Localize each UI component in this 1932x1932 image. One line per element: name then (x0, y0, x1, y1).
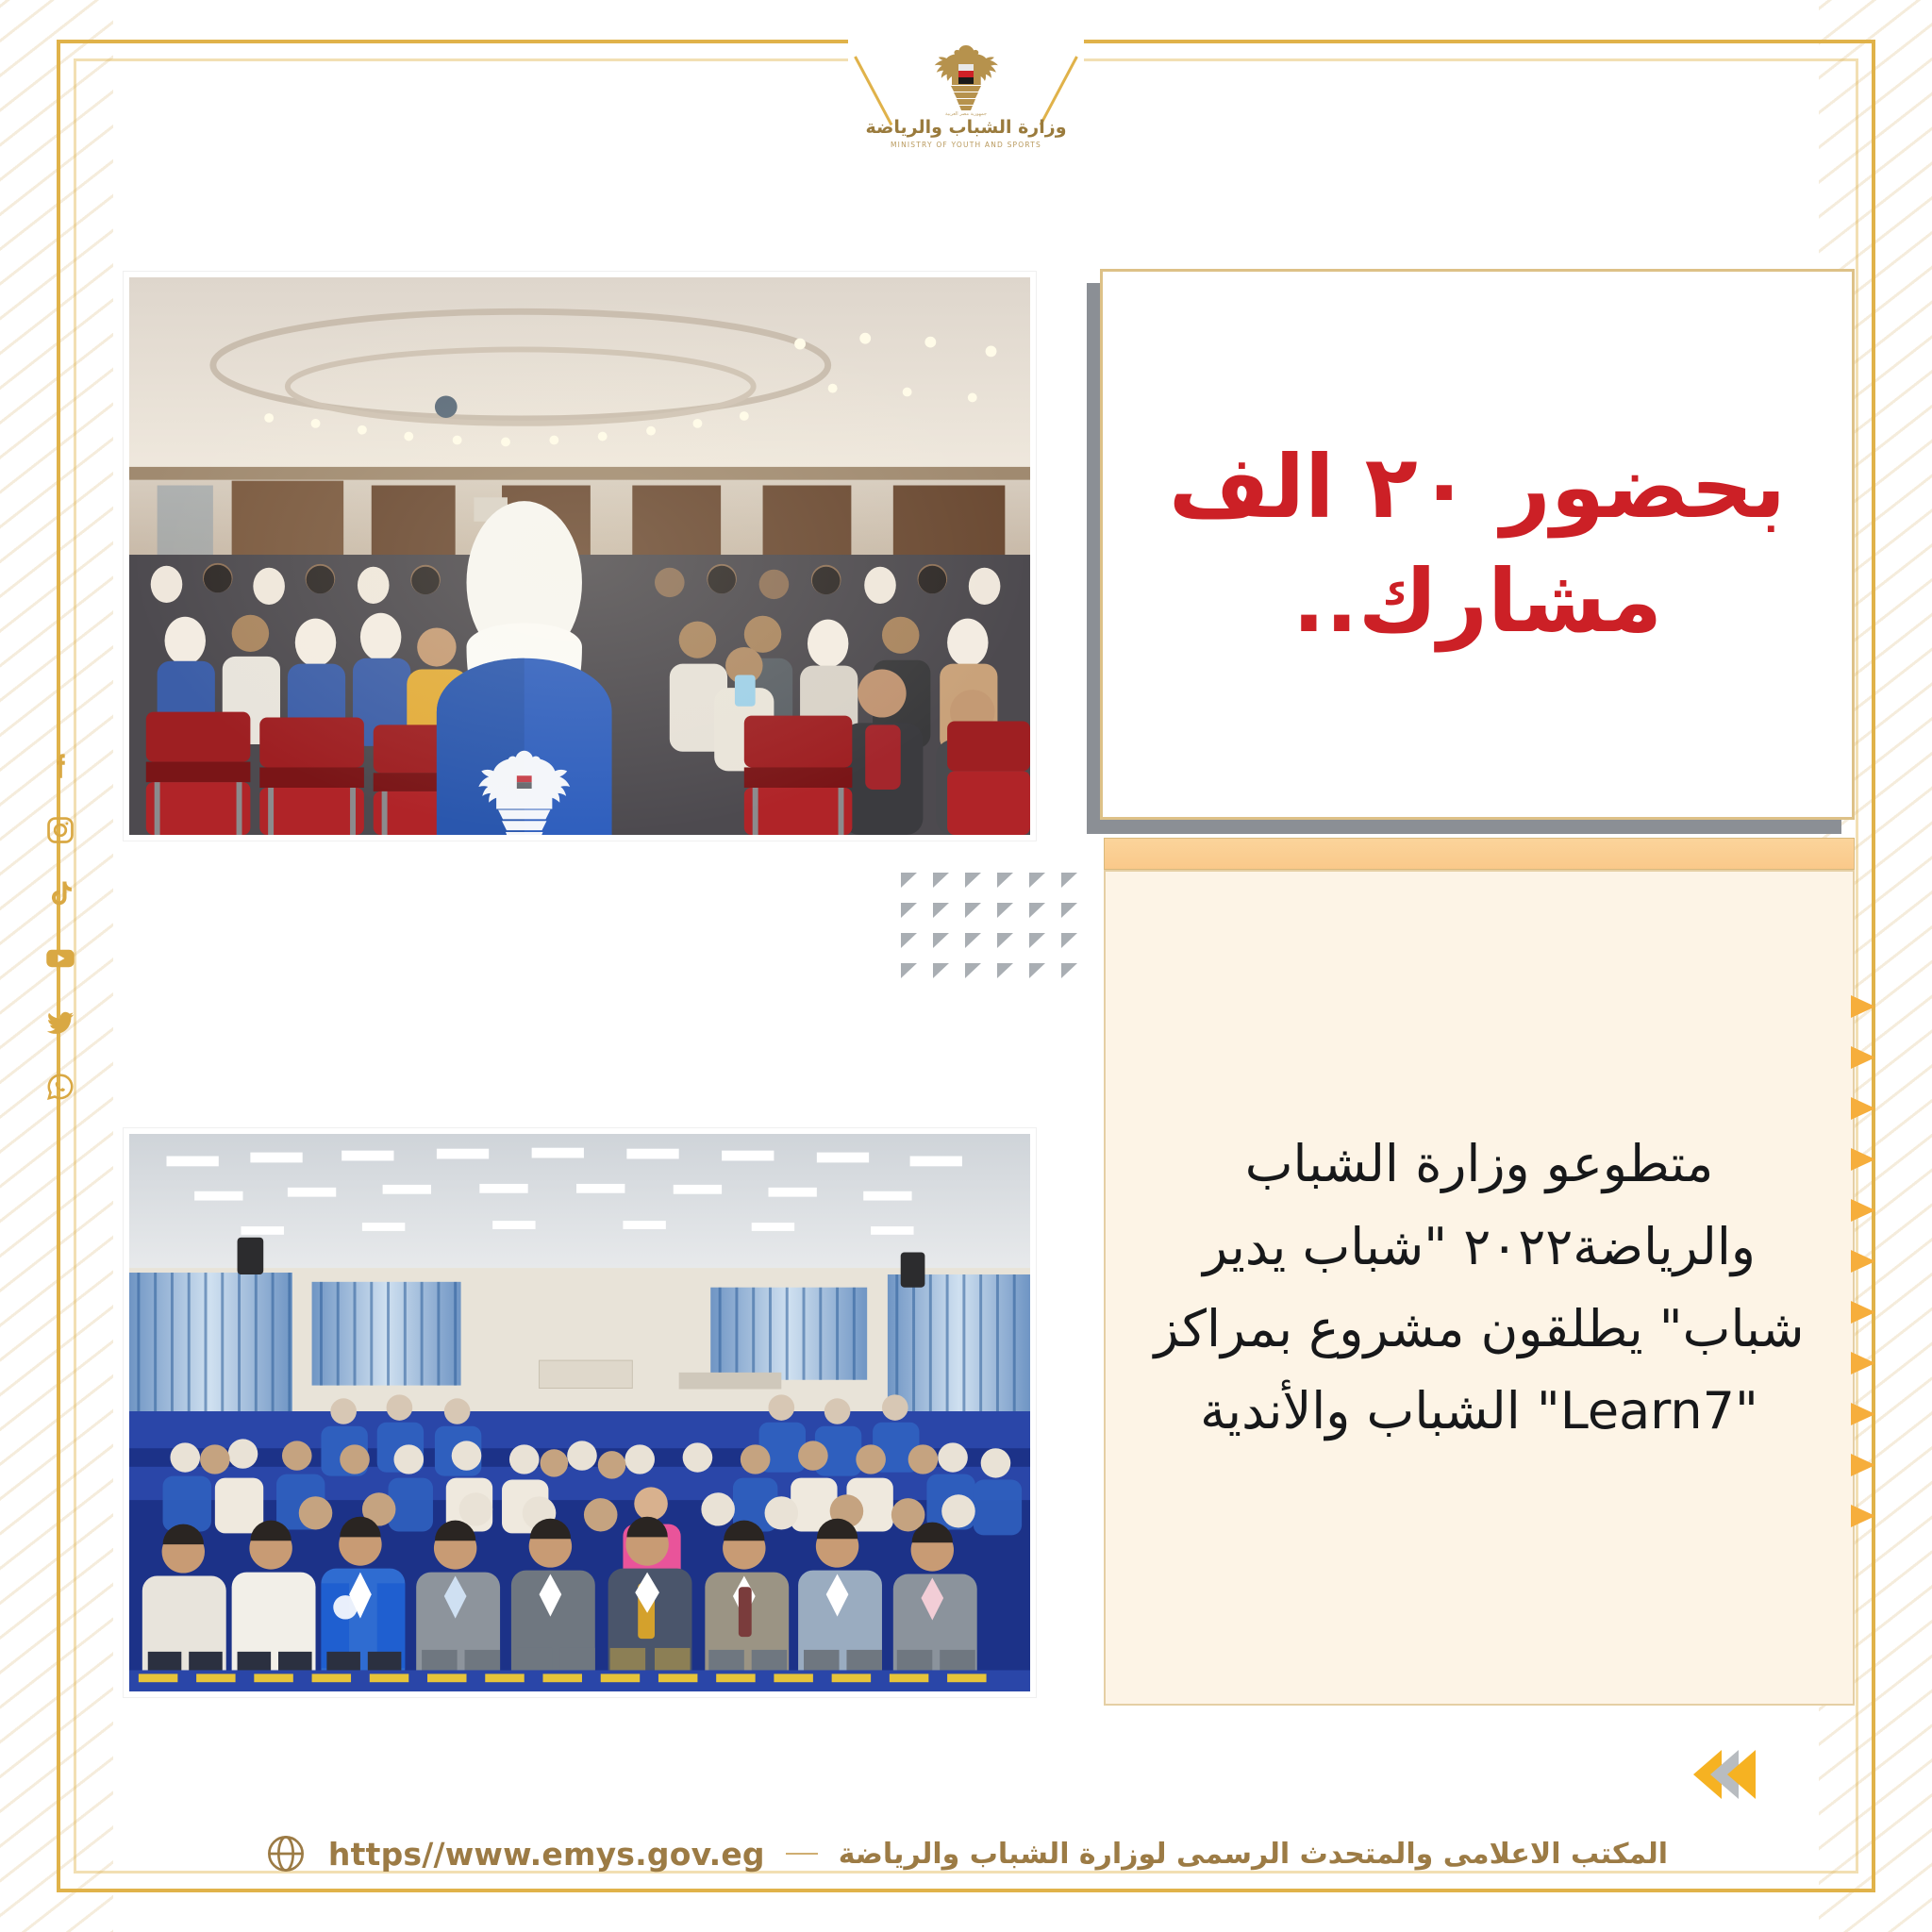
photo-speaker-addressing-audience: وزارة الشباب والرياضة MINISTRY OF YOUTH … (124, 272, 1036, 841)
photo-group-auditorium (124, 1128, 1036, 1697)
footer-arabic-text: المكتب الاعلامى والمتحدث الرسمى لوزارة ا… (839, 1838, 1668, 1871)
body-panel: متطوعو وزارة الشباب والرياضة٢٠٢٢ "شباب ي… (1104, 870, 1855, 1706)
youtube-icon[interactable] (40, 938, 81, 979)
body-panel-cap (1104, 838, 1855, 870)
right-triangle-column-decor (1851, 995, 1875, 1527)
headline-card: بحضور ٢٠ الف مشارك.. (1100, 269, 1855, 820)
footer: https//www.emys.gov.eg المكتب الاعلامى و… (0, 1832, 1932, 1875)
footer-divider (786, 1853, 818, 1855)
logo-arabic-name: وزارة الشباب والرياضة (858, 119, 1074, 138)
instagram-icon[interactable] (40, 809, 81, 851)
egyptian-eagle-emblem-icon (923, 42, 1009, 111)
facebook-icon[interactable] (40, 745, 81, 787)
tiktok-icon[interactable] (40, 874, 81, 915)
triangle-dot-grid-decor (901, 873, 1093, 993)
social-icons-rail[interactable] (40, 745, 81, 1108)
globe-icon (264, 1832, 308, 1875)
footer-website-url[interactable]: https//www.emys.gov.eg (328, 1836, 765, 1873)
logo-english-name: MINISTRY OF YOUTH AND SPORTS (858, 141, 1074, 149)
headline-text: بحضور ٢٠ الف مشارك.. (1141, 430, 1814, 659)
body-text: متطوعو وزارة الشباب والرياضة٢٠٢٢ "شباب ي… (1140, 1123, 1819, 1453)
ministry-logo: جمهورية مصر العربية وزارة الشباب والرياض… (858, 42, 1074, 149)
poster-root: جمهورية مصر العربية وزارة الشباب والرياض… (0, 0, 1932, 1932)
whatsapp-icon[interactable] (40, 1066, 81, 1108)
twitter-icon[interactable] (40, 1002, 81, 1043)
chevron-arrows-decor (1693, 1750, 1744, 1799)
